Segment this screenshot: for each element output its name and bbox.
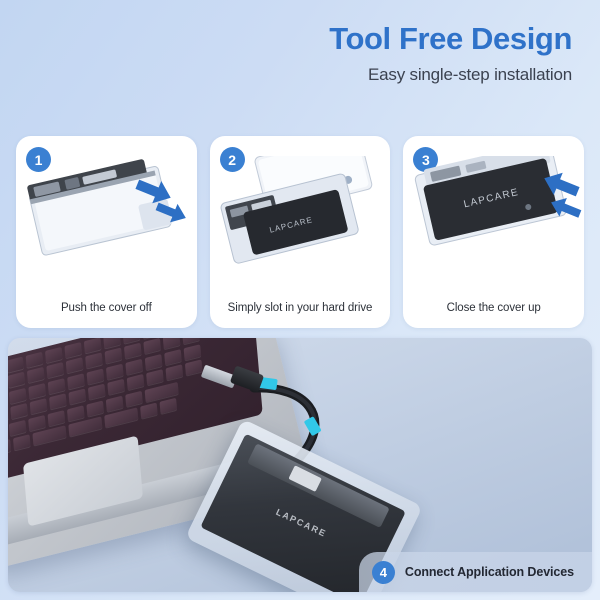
step-badge-4: 4 (372, 561, 395, 584)
step-caption-1: Push the cover off (20, 302, 193, 314)
page-title: Tool Free Design (0, 22, 572, 56)
step-card-1[interactable]: 1 (16, 136, 197, 328)
header: Tool Free Design Easy single-step instal… (0, 22, 586, 85)
step-4-label: Connect Application Devices (405, 565, 574, 579)
steps-row: 1 (16, 136, 584, 328)
page-subtitle: Easy single-step installation (0, 65, 572, 85)
infographic-page: Tool Free Design Easy single-step instal… (0, 0, 600, 600)
step-4-callout[interactable]: 4 Connect Application Devices (359, 552, 592, 592)
step-card-2[interactable]: 2 LAPCARE (210, 136, 391, 328)
step-caption-2: Simply slot in your hard drive (214, 302, 387, 314)
step-caption-3: Close the cover up (407, 302, 580, 314)
enclosure-closed-icon: LAPCARE (403, 156, 584, 284)
application-photo-panel: LAPCARE 4 Connect Application Devices (8, 338, 592, 592)
step-card-3[interactable]: 3 LAPCARE (403, 136, 584, 328)
enclosure-open-icon (16, 156, 197, 284)
device-brand-label: LAPCARE (274, 507, 328, 539)
hard-drive-insert-icon: LAPCARE (210, 156, 391, 284)
